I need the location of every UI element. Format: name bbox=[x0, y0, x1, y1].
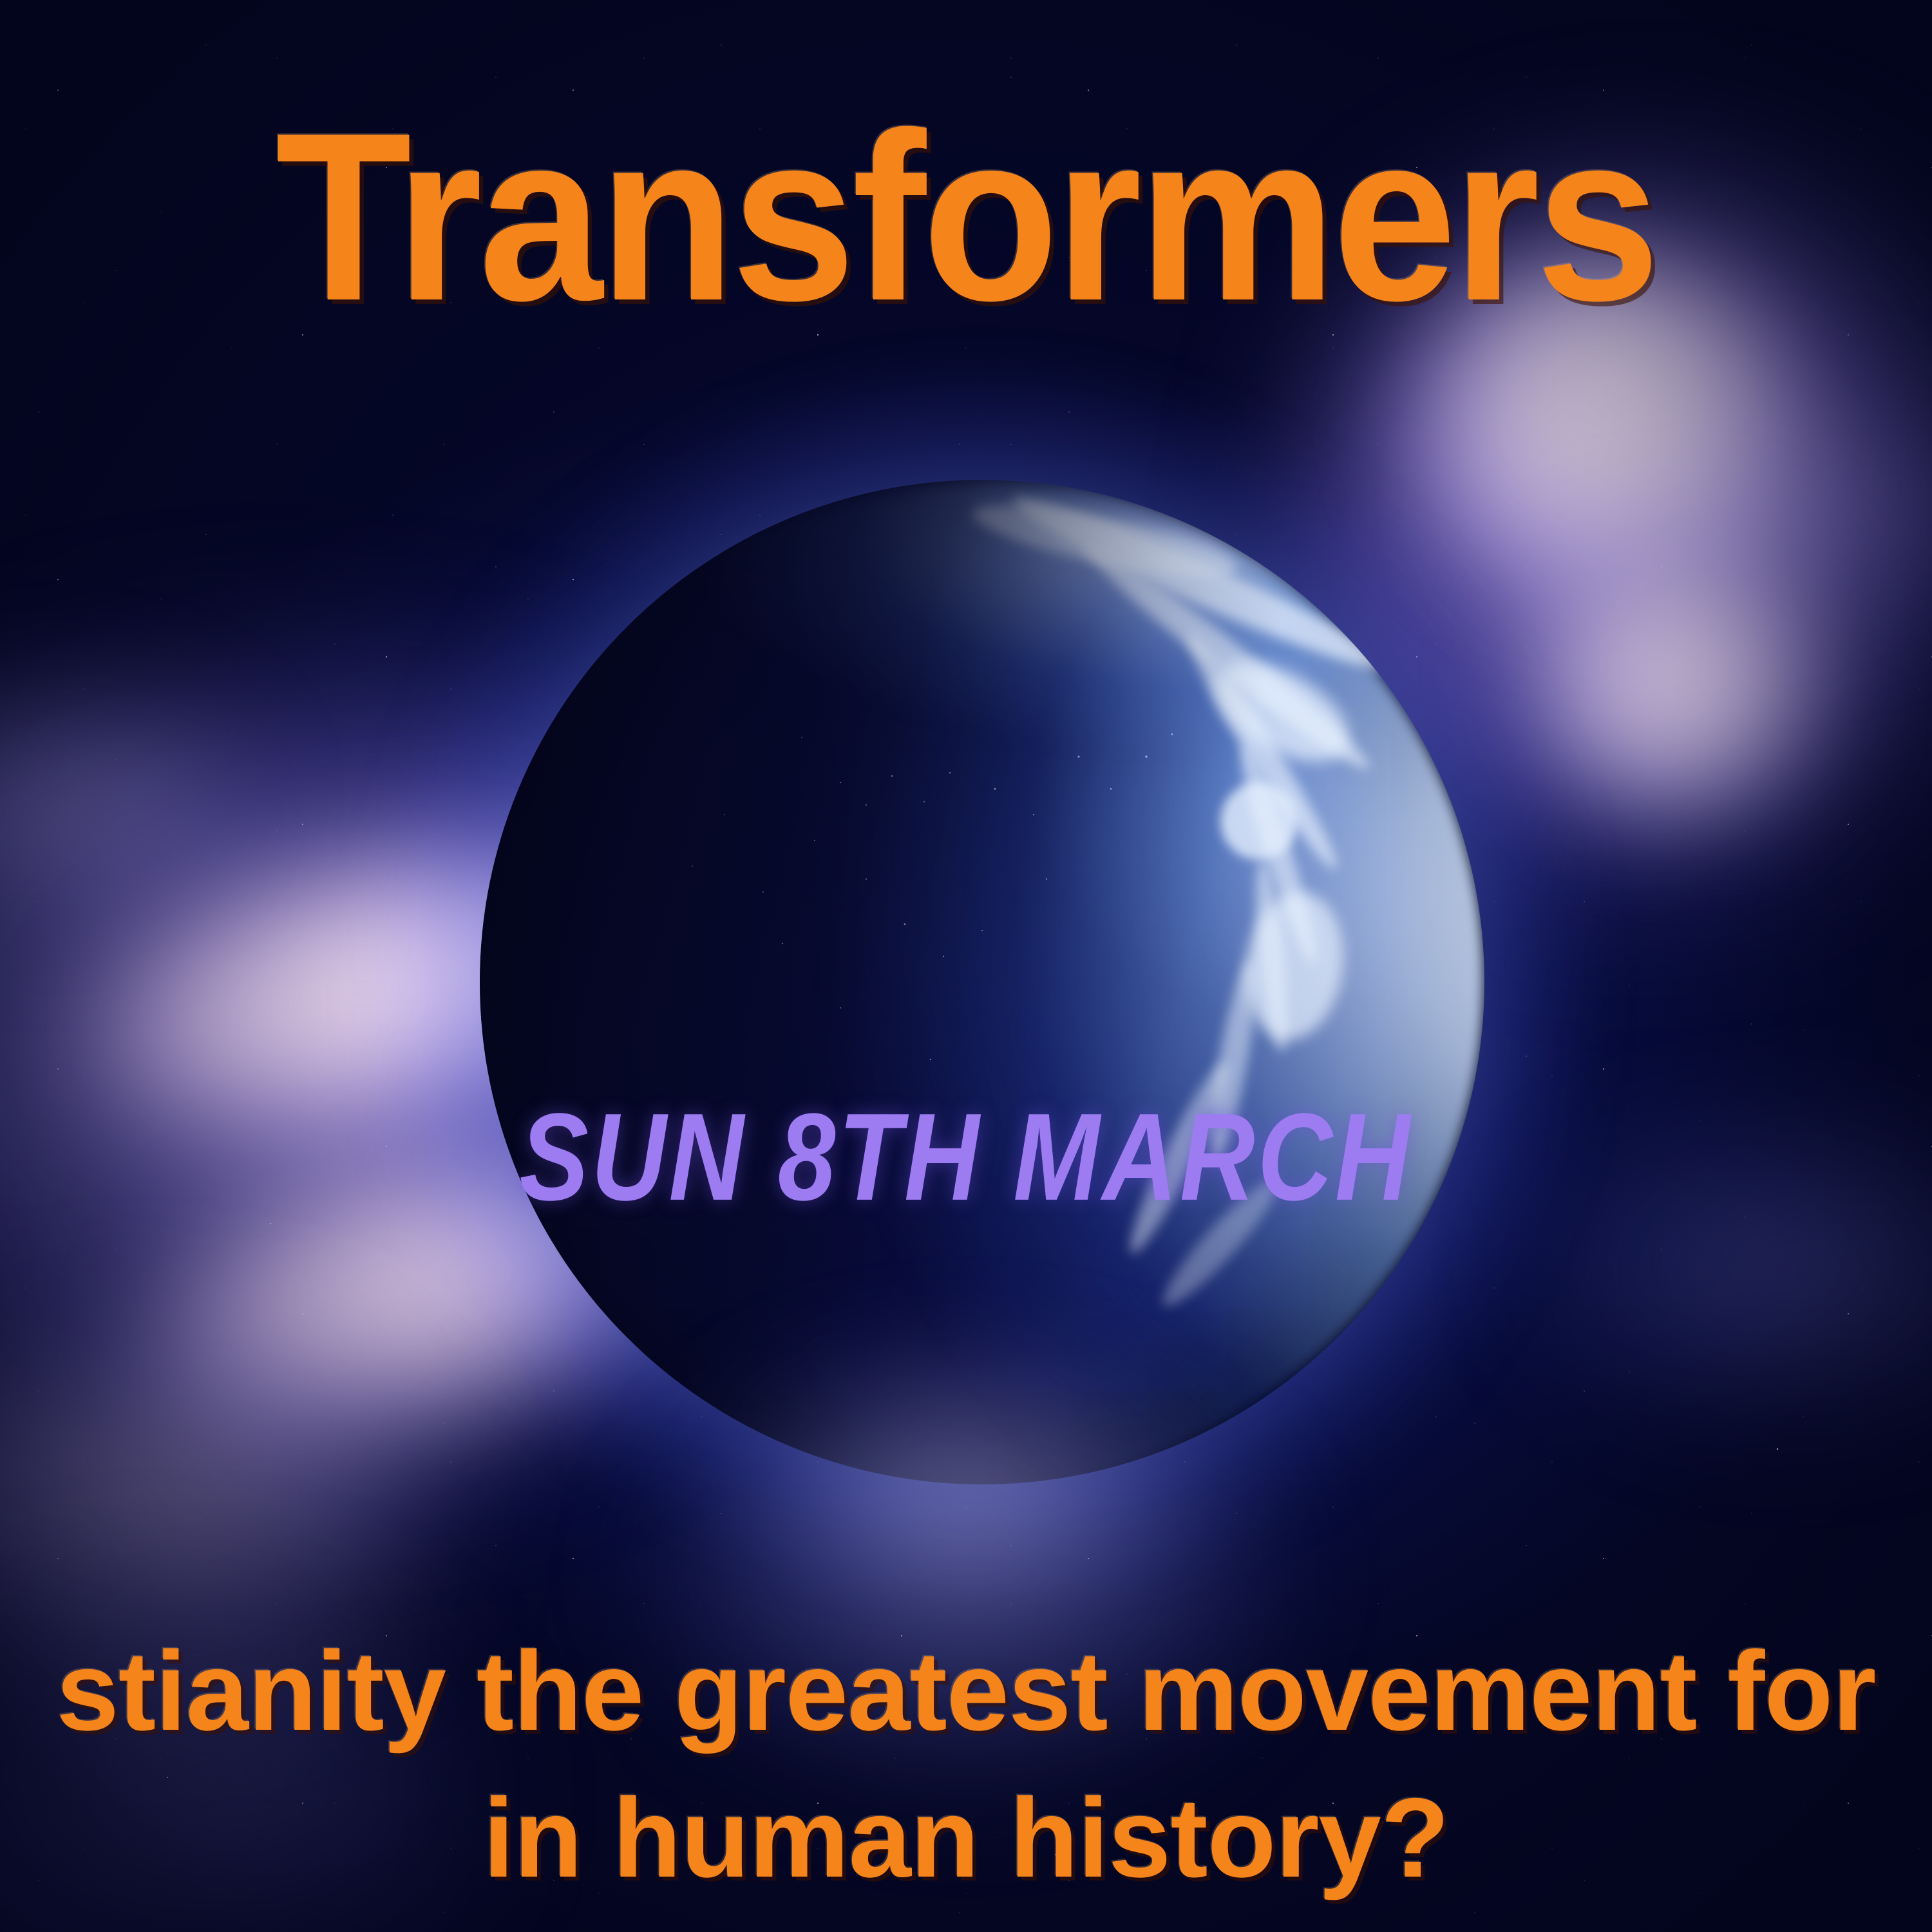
poster-canvas: Transformers SUN 8TH MARCH stianity the … bbox=[0, 0, 1932, 1932]
tagline-line-2: in human history? bbox=[0, 1770, 1932, 1908]
poster-title: Transformers bbox=[68, 97, 1864, 336]
poster-tagline: stianity the greatest movement for in hu… bbox=[0, 1623, 1932, 1907]
event-date: SUN 8TH MARCH bbox=[0, 1095, 1932, 1220]
tagline-line-1: stianity the greatest movement for bbox=[0, 1623, 1932, 1761]
